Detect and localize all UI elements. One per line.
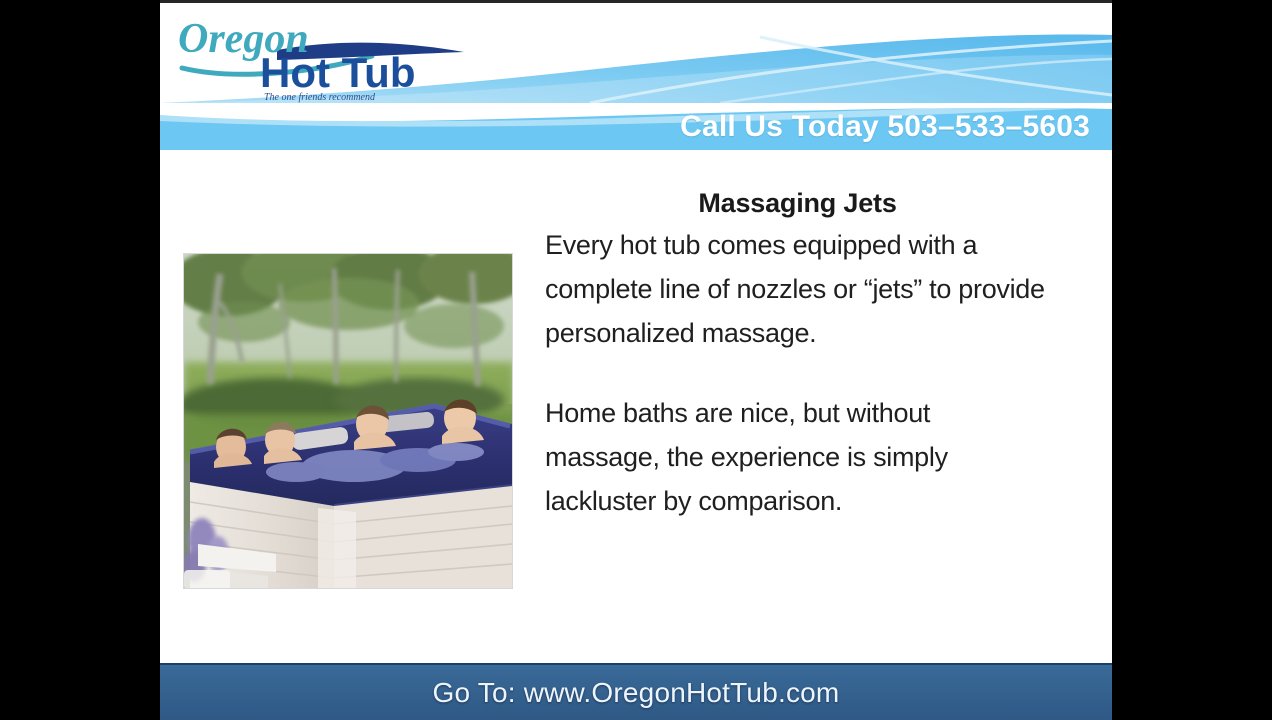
site-header: Oregon Hot Tub The one friends recommend	[160, 3, 1112, 103]
copy-block: Massaging Jets Every hot tub comes equip…	[545, 188, 1050, 523]
video-letterbox-stage: Oregon Hot Tub The one friends recommend…	[0, 0, 1272, 720]
paragraph-spacer	[545, 355, 1050, 391]
paragraph-2: Home baths are nice, but without massage…	[545, 391, 1050, 523]
page-title: Massaging Jets	[545, 188, 1050, 219]
footer-url-text: Go To: www.OregonHotTub.com	[433, 677, 840, 709]
logo-word-hottub: Hot Tub	[260, 49, 416, 96]
paragraph-1: Every hot tub comes equipped with a comp…	[545, 223, 1050, 355]
site-footer[interactable]: Go To: www.OregonHotTub.com	[160, 663, 1112, 720]
slide-body: Massaging Jets Every hot tub comes equip…	[160, 150, 1112, 663]
hot-tub-photo	[183, 253, 513, 589]
call-us-today-text: Call Us Today 503–533–5603	[680, 110, 1090, 144]
logo-tagline: The one friends recommend	[264, 92, 376, 103]
call-us-today-bar[interactable]: Call Us Today 503–533–5603	[160, 103, 1112, 150]
slide-frame: Oregon Hot Tub The one friends recommend…	[160, 0, 1112, 720]
oregon-hot-tub-logo[interactable]: Oregon Hot Tub The one friends recommend	[172, 8, 472, 103]
